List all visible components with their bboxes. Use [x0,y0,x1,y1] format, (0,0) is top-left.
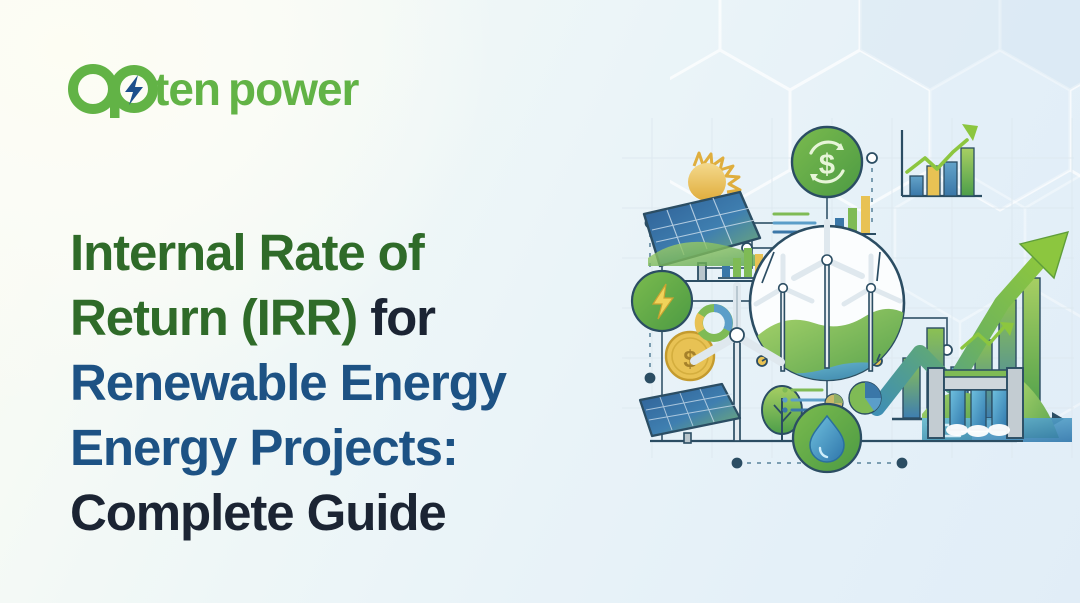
water-droplet-badge-icon [793,404,861,472]
headline-line-2: Return (IRR) for [70,285,670,350]
logo-p-mark [110,70,153,118]
hydro-dam-icon [922,368,1072,442]
headline-line-2-navy [357,289,370,346]
donut-chart-icon [699,308,729,338]
headline-line-1: Internal Rate of [70,220,670,285]
lightning-badge-icon [632,270,692,332]
bar-chart-growth-icon [902,124,982,196]
svg-text:ten: ten [154,63,220,115]
headline-line-2-for: for [370,289,435,346]
headline-line-5: Complete Guide [70,480,670,545]
banner: ten power Internal Rate of Return (IRR) … [0,0,1080,603]
hero-illustration-svg: $ [622,118,1074,486]
solar-panel-secondary-icon [640,384,740,443]
svg-text:$: $ [819,149,835,181]
growth-arrow-small-icon [907,140,967,172]
headline-line-4: Energy Projects: [70,415,670,480]
pie-chart-icon [849,382,881,414]
lightning-bolt-icon [125,75,143,105]
page-title: Internal Rate of Return (IRR) for Renewa… [70,220,670,545]
headline-line-2-green: Return (IRR) [70,289,357,346]
dollar-cycle-badge-icon: $ [792,127,862,197]
brand-logo[interactable]: ten power [68,56,388,118]
headline-line-3: Renewable Energy [70,350,670,415]
svg-text:power: power [228,63,360,115]
brand-logo-svg: ten power [68,56,388,118]
hero-illustration: $ [622,118,1074,486]
dam-spillways [950,390,1007,430]
